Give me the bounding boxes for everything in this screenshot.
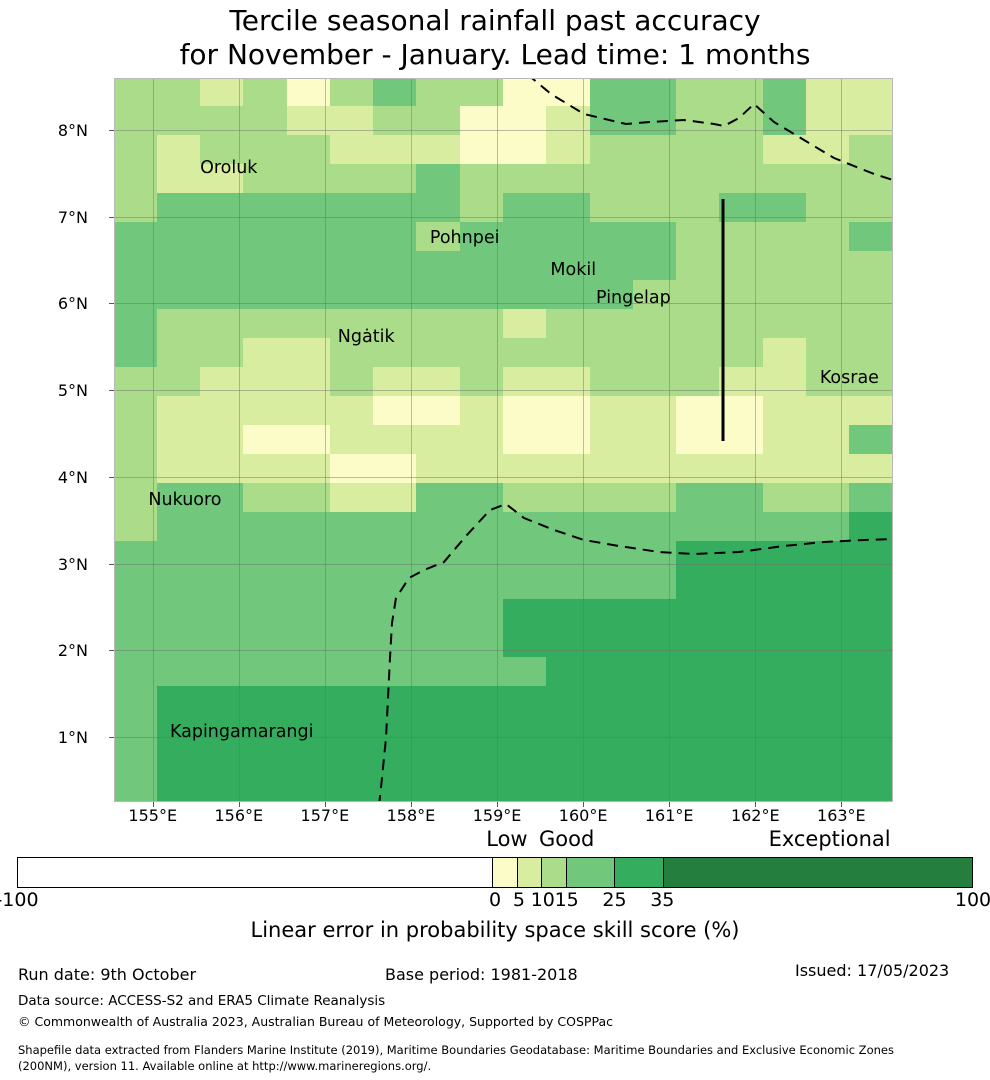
heatmap-cell [546,425,590,455]
heatmap-cell [633,367,677,397]
heatmap-cell [287,367,331,397]
heatmap-cell [633,309,677,339]
heatmap-cell [157,396,201,426]
x-axis-tick-label: 161°E [624,806,714,825]
heatmap-cell [676,773,720,803]
heatmap-cell [763,222,807,252]
heatmap-cell [763,483,807,513]
heatmap-cell [590,367,634,397]
heatmap-cell [849,773,893,803]
heatmap-cell [460,628,504,658]
heatmap-cell [719,309,763,339]
heatmap-cell [503,715,547,745]
heatmap-cell [287,251,331,281]
heatmap-cell [676,686,720,716]
heatmap-cell [157,657,201,687]
colorbar-tick-label: 10 [531,889,555,911]
heatmap-cell [719,657,763,687]
heatmap-cell [416,686,460,716]
heatmap-cell [287,222,331,252]
heatmap-cell [719,715,763,745]
heatmap-cell [287,280,331,310]
heatmap-cell [719,744,763,774]
heatmap-cell [114,338,158,368]
heatmap-cell [157,135,201,165]
heatmap-cell [460,454,504,484]
heatmap-cell [763,744,807,774]
heatmap-cell [330,541,374,571]
heatmap-cell [849,193,893,223]
heatmap-cell [503,628,547,658]
heatmap-cell [849,570,893,600]
heatmap-cell [373,338,417,368]
heatmap-cell [114,483,158,513]
heatmap-cell [590,657,634,687]
heatmap-cell [287,454,331,484]
heatmap-cell [200,715,244,745]
heatmap-cell [763,251,807,281]
heatmap-cell [200,164,244,194]
x-axis-tick-label: 156°E [194,806,284,825]
heatmap-cell [287,338,331,368]
heatmap-cell [416,744,460,774]
heatmap-cell [763,570,807,600]
heatmap-cell [157,541,201,571]
heatmap-cell [200,686,244,716]
heatmap-cell [849,425,893,455]
heatmap-cell [763,599,807,629]
heatmap-cell [676,78,720,108]
heatmap-cell [114,106,158,136]
heatmap-cell [460,367,504,397]
heatmap-cell [114,164,158,194]
heatmap-cell [719,280,763,310]
heatmap-cell [330,396,374,426]
x-axis-tick-mark [153,802,154,807]
heatmap-cell [416,280,460,310]
heatmap-cell [849,338,893,368]
heatmap-cell [676,570,720,600]
heatmap-cell [590,483,634,513]
heatmap-cell [243,193,287,223]
heatmap-cell [849,78,893,108]
heatmap-cell [416,425,460,455]
heatmap-cell [719,599,763,629]
y-axis-tick-mark [109,477,114,478]
heatmap-cell [633,106,677,136]
heatmap-cell [719,541,763,571]
heatmap-cell [114,773,158,803]
x-axis-tick-mark [755,802,756,807]
heatmap-cell [763,193,807,223]
heatmap-cell [849,135,893,165]
heatmap-cell [849,744,893,774]
heatmap-cell [460,541,504,571]
colorbar-segment[interactable] [517,858,542,887]
heatmap-cell [590,570,634,600]
colorbar-tick-label: 15 [555,889,579,911]
heatmap-cell [849,164,893,194]
heatmap-cell [849,106,893,136]
heatmap-cell [503,222,547,252]
heatmap-cell [287,512,331,542]
heatmap-cell [330,744,374,774]
heatmap-cell [157,686,201,716]
heatmap-cell [806,396,850,426]
heatmap-cell [157,309,201,339]
heatmap-cell [416,106,460,136]
heatmap-cell [590,599,634,629]
colorbar-tick-label: 0 [489,889,501,911]
heatmap-cell [330,193,374,223]
heatmap-cell [719,396,763,426]
heatmap-cell [114,396,158,426]
heatmap-cell [676,657,720,687]
footer-shapefile-1: Shapefile data extracted from Flanders M… [18,1043,894,1057]
heatmap-cell [114,512,158,542]
y-axis-tick-mark [109,390,114,391]
heatmap-cell [806,135,850,165]
heatmap-cell [200,628,244,658]
heatmap-cell [373,541,417,571]
heatmap-cell [243,715,287,745]
heatmap-cell [330,425,374,455]
heatmap-cell [546,193,590,223]
heatmap-cell [546,164,590,194]
x-axis-tick-label: 158°E [366,806,456,825]
heatmap-cell [676,715,720,745]
heatmap-cell [243,251,287,281]
x-axis-tick-label: 159°E [452,806,542,825]
heatmap-cell [460,744,504,774]
heatmap-cell [719,338,763,368]
heatmap-cell [114,78,158,108]
heatmap-cell [114,744,158,774]
heatmap-cell [590,222,634,252]
heatmap-cell [633,425,677,455]
heatmap-cell [200,338,244,368]
x-axis-tick-label: 155°E [108,806,198,825]
colorbar-segment[interactable] [492,858,517,887]
heatmap-cell [157,193,201,223]
heatmap-cell [157,222,201,252]
heatmap-cell [503,599,547,629]
heatmap-cell [200,454,244,484]
heatmap-cell [373,686,417,716]
heatmap-cell [849,251,893,281]
heatmap-cell [633,78,677,108]
heatmap-cell [114,686,158,716]
heatmap-cell [806,773,850,803]
heatmap-cell [416,715,460,745]
y-axis-tick-mark [109,650,114,651]
heatmap-cell [633,541,677,571]
heatmap-cell [373,251,417,281]
heatmap-cell [157,744,201,774]
heatmap-cell [373,744,417,774]
heatmap-cell [849,686,893,716]
heatmap-cell [330,483,374,513]
y-axis-tick-label: 3°N [0,564,88,583]
colorbar-segment[interactable] [663,858,972,887]
colorbar-tick-labels: -1000510152535100 [0,889,990,913]
heatmap-cell [806,367,850,397]
heatmap-cell [503,106,547,136]
heatmap-cell [416,657,460,687]
heatmap-cell [373,425,417,455]
heatmap-cell [243,309,287,339]
heatmap-cell [200,309,244,339]
x-axis-tick-label: 162°E [710,806,800,825]
heatmap-cell [633,744,677,774]
heatmap-cell [287,164,331,194]
heatmap-cell [503,686,547,716]
heatmap-cell [763,541,807,571]
colorbar-quality-label: Good [539,827,594,851]
title-line-2: for November - January. Lead time: 1 mon… [0,38,990,72]
heatmap-cell [676,483,720,513]
heatmap-cell [243,280,287,310]
heatmap-cell [287,425,331,455]
heatmap-cell [676,106,720,136]
heatmap-cell [200,744,244,774]
heatmap-cell [633,396,677,426]
heatmap-cell [849,396,893,426]
heatmap-cell [460,396,504,426]
heatmap-cell [763,106,807,136]
heatmap-cell [373,222,417,252]
heatmap-cell [416,251,460,281]
heatmap-cell [676,512,720,542]
heatmap-cell [806,628,850,658]
heatmap-cell [200,570,244,600]
heatmap-cell [416,338,460,368]
colorbar[interactable] [17,857,973,888]
heatmap-cell [849,483,893,513]
heatmap-cell [806,164,850,194]
heatmap-cell [243,512,287,542]
heatmap-cell [806,744,850,774]
heatmap-cell [676,251,720,281]
heatmap-cell [460,222,504,252]
heatmap-cell [287,657,331,687]
heatmap-cell [330,78,374,108]
heatmap-cell [503,541,547,571]
heatmap-cell [590,425,634,455]
heatmap-cell [590,338,634,368]
heatmap-cell [330,222,374,252]
heatmap-cell [157,280,201,310]
heatmap-cell [460,570,504,600]
heatmap-cell [460,425,504,455]
heatmap-cell [633,251,677,281]
heatmap-cell [157,512,201,542]
heatmap-cell [330,106,374,136]
footer-copyright: © Commonwealth of Australia 2023, Austra… [18,1014,613,1029]
heatmap-cell [633,338,677,368]
x-axis-tick-mark [411,802,412,807]
heatmap-cell [676,454,720,484]
heatmap-cell [200,483,244,513]
heatmap-cell [633,454,677,484]
y-axis-tick-mark [109,737,114,738]
heatmap-cell [503,512,547,542]
colorbar-segment[interactable] [614,858,662,887]
heatmap-cell [373,280,417,310]
heatmap-cell [719,570,763,600]
heatmap-cell [503,338,547,368]
heatmap-cell [243,222,287,252]
heatmap-cell [503,251,547,281]
heatmap-cell [633,193,677,223]
colorbar-quality-label: Exceptional [769,827,891,851]
heatmap-cell [546,251,590,281]
heatmap-cell [763,164,807,194]
heatmap-cell [849,454,893,484]
heatmap-cell [806,657,850,687]
y-axis-tick-label: 4°N [0,477,88,496]
x-axis-tick-label: 160°E [538,806,628,825]
heatmap-cell [157,599,201,629]
y-axis-tick-mark [109,303,114,304]
heatmap-cell [330,599,374,629]
heatmap-cell [200,135,244,165]
y-axis-tick-label: 1°N [0,737,88,756]
heatmap-cell [330,512,374,542]
heatmap-cell [633,512,677,542]
heatmap-cell [157,164,201,194]
heatmap-cell [806,280,850,310]
heatmap-cell [849,222,893,252]
heatmap-cell [330,309,374,339]
heatmap-cell [330,570,374,600]
heatmap-cell [633,164,677,194]
heatmap-cell [546,483,590,513]
heatmap-cell [763,628,807,658]
heatmap-cell [416,512,460,542]
heatmap-cell [287,628,331,658]
heatmap-cell [676,222,720,252]
heatmap-cell [373,367,417,397]
heatmap-cell [287,773,331,803]
heatmap-cell [503,425,547,455]
heatmap-cell [546,454,590,484]
heatmap-cell [416,483,460,513]
colorbar-tick-label: 35 [650,889,674,911]
heatmap-cell [287,715,331,745]
heatmap-cell [373,483,417,513]
heatmap-cell [546,106,590,136]
heatmap-cell [330,338,374,368]
y-axis-tick-label: 5°N [0,390,88,409]
heatmap-cell [633,135,677,165]
heatmap-cell [503,135,547,165]
heatmap-cell [806,599,850,629]
heatmap-cell [806,78,850,108]
heatmap-cell [157,628,201,658]
heatmap-cell [806,483,850,513]
heatmap-cell [157,570,201,600]
heatmap-cell [157,715,201,745]
heatmap-cell [546,773,590,803]
heatmap-cell [503,454,547,484]
heatmap-cell [633,715,677,745]
heatmap-cell [243,135,287,165]
heatmap-cell [243,570,287,600]
heatmap-cell [373,309,417,339]
colorbar-segment[interactable] [18,858,492,887]
x-axis-tick-mark [841,802,842,807]
heatmap-cell [763,396,807,426]
heatmap-cell [114,454,158,484]
heatmap-cell [590,541,634,571]
heatmap-cell [114,367,158,397]
heatmap-cell [243,367,287,397]
heatmap-cell [460,512,504,542]
heatmap-cell [200,367,244,397]
heatmap-cell [416,367,460,397]
heatmap-cell [849,309,893,339]
heatmap-cell [416,396,460,426]
heatmap-cell [330,454,374,484]
heatmap-cell [503,193,547,223]
heatmap-cell [763,686,807,716]
heatmap-cell [416,78,460,108]
y-axis-tick-label: 7°N [0,217,88,236]
heatmap-cell [546,570,590,600]
heatmap-cell [330,135,374,165]
heatmap-cell [460,280,504,310]
heatmap-cell [200,425,244,455]
heatmap-cell [460,686,504,716]
heatmap-cell [719,512,763,542]
colorbar-segment[interactable] [541,858,566,887]
heatmap-cell [287,599,331,629]
skill-score-heatmap [114,78,893,802]
heatmap-cell [590,686,634,716]
heatmap-cell [416,773,460,803]
heatmap-cell [114,628,158,658]
heatmap-cell [763,425,807,455]
heatmap-cell [763,135,807,165]
heatmap-cell [633,599,677,629]
heatmap-cell [719,483,763,513]
y-axis-tick-label: 8°N [0,130,88,149]
heatmap-cell [806,251,850,281]
colorbar-segment[interactable] [566,858,614,887]
heatmap-cell [633,280,677,310]
heatmap-cell [633,657,677,687]
heatmap-cell [373,78,417,108]
heatmap-cell [243,106,287,136]
heatmap-cell [287,106,331,136]
heatmap-cell [849,715,893,745]
heatmap-cell [373,657,417,687]
heatmap-cell [590,396,634,426]
heatmap-cell [287,309,331,339]
heatmap-cell [114,280,158,310]
heatmap-cell [763,773,807,803]
heatmap-cell [243,425,287,455]
heatmap-cell [546,222,590,252]
heatmap-cell [763,338,807,368]
heatmap-cell [719,251,763,281]
heatmap-cell [200,773,244,803]
heatmap-cell [114,599,158,629]
heatmap-cell [849,512,893,542]
heatmap-cell [849,280,893,310]
heatmap-cell [849,657,893,687]
